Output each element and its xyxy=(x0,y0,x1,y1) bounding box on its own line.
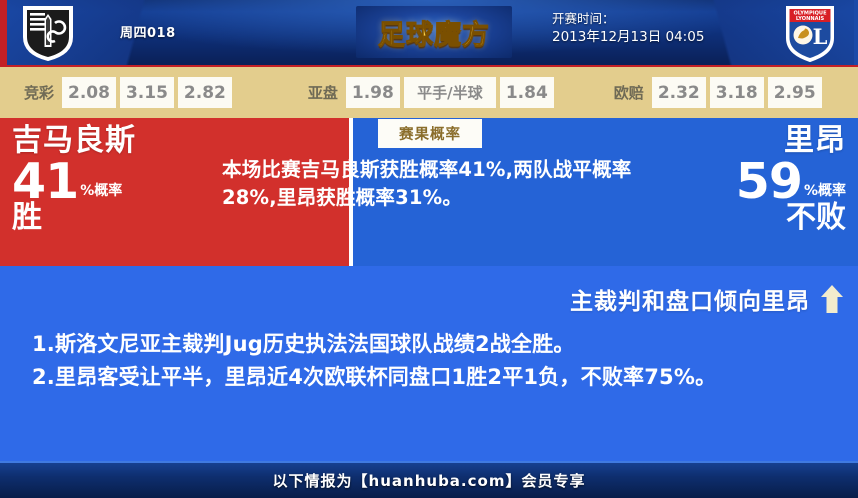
home-probability-suffix: %概率 xyxy=(78,184,122,204)
analysis-points: 1.斯洛文尼亚主裁判Jug历史执法法国球队战绩2战全胜。 2.里昂客受让平半，里… xyxy=(32,328,822,394)
odds-cell-jingcai-away[interactable]: 2.82 xyxy=(178,77,232,108)
odds-group-label: 欧赔 xyxy=(614,82,644,103)
odds-group-label: 竞彩 xyxy=(24,82,54,103)
kickoff-time: 2013年12月13日 04:05 xyxy=(552,28,762,48)
odds-cell-european-draw[interactable]: 3.18 xyxy=(710,77,764,108)
odds-bar: 竞彩 2.08 3.15 2.82 亚盘 1.98 平手/半球 1.84 欧赔 … xyxy=(0,65,858,118)
header-accent-bar-left xyxy=(0,0,7,65)
home-team-probability: 吉马良斯 41 %概率 胜 xyxy=(12,126,136,233)
card-header: 周四018 足球魔方 开赛时间： 2013年12月13日 04:05 OLYMP… xyxy=(0,0,858,65)
kickoff-block: 开赛时间： 2013年12月13日 04:05 xyxy=(552,10,762,48)
odds-cell-jingcai-draw[interactable]: 3.15 xyxy=(120,77,174,108)
round-label: 周四018 xyxy=(120,22,176,41)
away-probability-value: 59 xyxy=(736,159,802,204)
away-team-name: 里昂 xyxy=(736,126,846,157)
svg-text:L: L xyxy=(813,24,828,49)
brand-logo[interactable]: 足球魔方 xyxy=(356,6,512,58)
vitoria-guimaraes-crest xyxy=(22,5,74,61)
home-probability-value: 41 xyxy=(12,159,78,204)
list-item: 1.斯洛文尼亚主裁判Jug历史执法法国球队战绩2战全胜。 xyxy=(32,328,822,361)
svg-text:LYONNAIS: LYONNAIS xyxy=(796,16,825,22)
footer-bar: 以下情报为【huanhuba.com】会员专享 xyxy=(0,461,858,498)
brand-logo-text: 足球魔方 xyxy=(378,13,490,52)
header-accent-bar-right xyxy=(854,0,858,65)
odds-group-asian: 亚盘 1.98 平手/半球 1.84 xyxy=(308,77,558,108)
odds-group-jingcai: 竞彩 2.08 3.15 2.82 xyxy=(24,77,236,108)
analysis-headline: 主裁判和盘口倾向里昂 xyxy=(570,282,810,316)
away-team-probability: 里昂 59 %概率 不败 xyxy=(736,126,846,233)
olympique-lyonnais-crest: OLYMPIQUE LYONNAIS L xyxy=(784,4,836,62)
footer-text: 以下情报为【huanhuba.com】会员专享 xyxy=(273,470,586,491)
odds-cell-european-home[interactable]: 2.32 xyxy=(652,77,706,108)
odds-cell-european-away[interactable]: 2.95 xyxy=(768,77,822,108)
analysis-section: 主裁判和盘口倾向里昂 1.斯洛文尼亚主裁判Jug历史执法法国球队战绩2战全胜。 … xyxy=(0,266,858,461)
match-preview-card: 周四018 足球魔方 开赛时间： 2013年12月13日 04:05 OLYMP… xyxy=(0,0,858,498)
odds-cell-asian-home[interactable]: 1.98 xyxy=(346,77,400,108)
list-item: 2.里昂客受让平半，里昂近4次欧联杯同盘口1胜2平1负，不败率75%。 xyxy=(32,361,822,394)
probability-summary: 本场比赛吉马良斯获胜概率41%,两队战平概率28%,里昂获胜概率31%。 xyxy=(222,156,642,211)
odds-group-european: 欧赔 2.32 3.18 2.95 xyxy=(614,77,826,108)
home-team-name: 吉马良斯 xyxy=(12,126,136,157)
arrow-up-icon xyxy=(820,284,844,314)
analysis-headline-row: 主裁判和盘口倾向里昂 xyxy=(570,282,844,316)
odds-group-label: 亚盘 xyxy=(308,82,338,103)
odds-cell-asian-handicap[interactable]: 平手/半球 xyxy=(404,77,496,108)
kickoff-label: 开赛时间： xyxy=(552,10,762,28)
odds-cell-jingcai-home[interactable]: 2.08 xyxy=(62,77,116,108)
odds-cell-asian-away[interactable]: 1.84 xyxy=(500,77,554,108)
tab-result-probability[interactable]: 赛果概率 xyxy=(378,119,482,148)
